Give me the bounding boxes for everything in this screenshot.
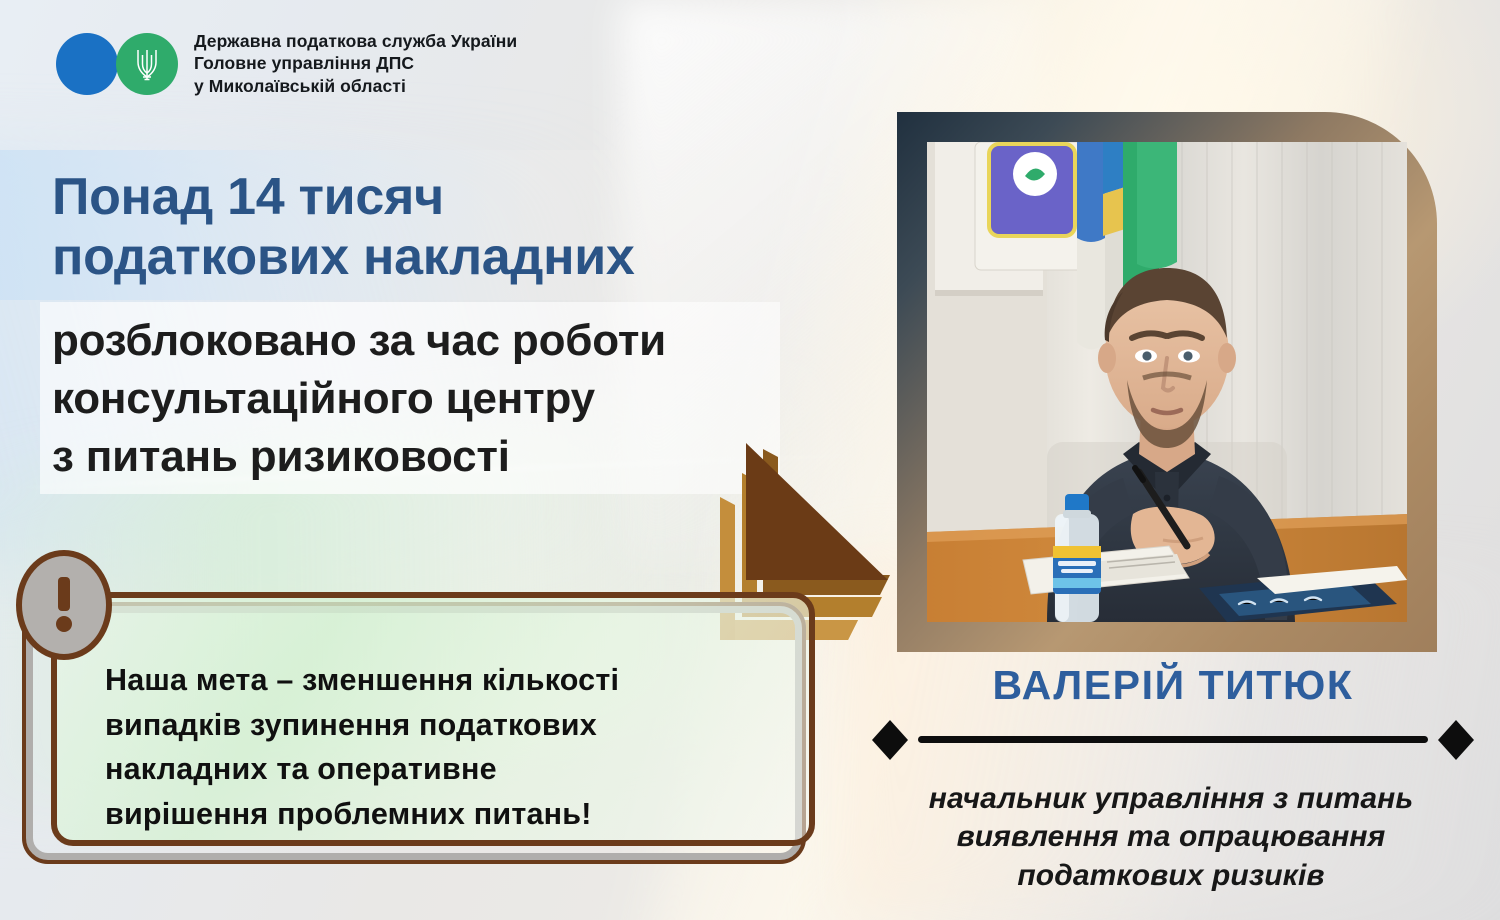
divider-line (918, 736, 1428, 743)
quote-line-4: вирішення проблемних питань! (105, 792, 815, 837)
quote-card-body: Наша мета – зменшення кількості випадків… (51, 592, 815, 846)
headline-line-1: Понад 14 тисяч (52, 168, 852, 228)
brand-line-2: Головне управління ДПС (194, 52, 517, 74)
headline-line-2: податкових накладних (52, 228, 852, 288)
agency-logo (56, 33, 178, 95)
portrait-photo (927, 142, 1407, 622)
quote-line-2: випадків зупинення податкових (105, 703, 815, 748)
quote-line-1: Наша мета – зменшення кількості (105, 658, 815, 703)
person-role-line-2: виявлення та опрацювання (836, 818, 1500, 856)
page-title: Понад 14 тисяч податкових накладних (52, 168, 852, 288)
diamond-right-icon (1438, 720, 1474, 760)
person-role-line-1: начальник управління з питань (836, 780, 1500, 818)
diamond-left-icon (872, 720, 908, 760)
subhead-line-2: консультаційного центру (52, 370, 872, 428)
person-role: начальник управління з питань виявлення … (836, 780, 1500, 895)
logo-blue-circle-icon (56, 33, 118, 95)
exclamation-badge-icon (16, 550, 112, 660)
brand-line-1: Державна податкова служба України (194, 30, 517, 52)
brand-text-block: Державна податкова служба України Головн… (194, 30, 517, 97)
subhead-line-1: розблоковано за час роботи (52, 312, 872, 370)
quote-card: Наша мета – зменшення кількості випадків… (14, 592, 824, 872)
person-name: ВАЛЕРІЙ ТИТЮК (846, 662, 1500, 709)
quote-text: Наша мета – зменшення кількості випадків… (105, 658, 815, 836)
poster-canvas: Державна податкова служба України Головн… (0, 0, 1500, 920)
portrait-frame (897, 112, 1437, 652)
brand-header: Державна податкова служба України Головн… (56, 30, 517, 97)
logo-green-circle-icon (116, 33, 178, 95)
diamond-divider (846, 712, 1500, 768)
person-role-line-3: податкових ризиків (836, 857, 1500, 895)
brand-line-3: у Миколаївській області (194, 75, 517, 97)
quote-line-3: накладних та оперативне (105, 747, 815, 792)
ukraine-trident-icon (134, 46, 160, 82)
